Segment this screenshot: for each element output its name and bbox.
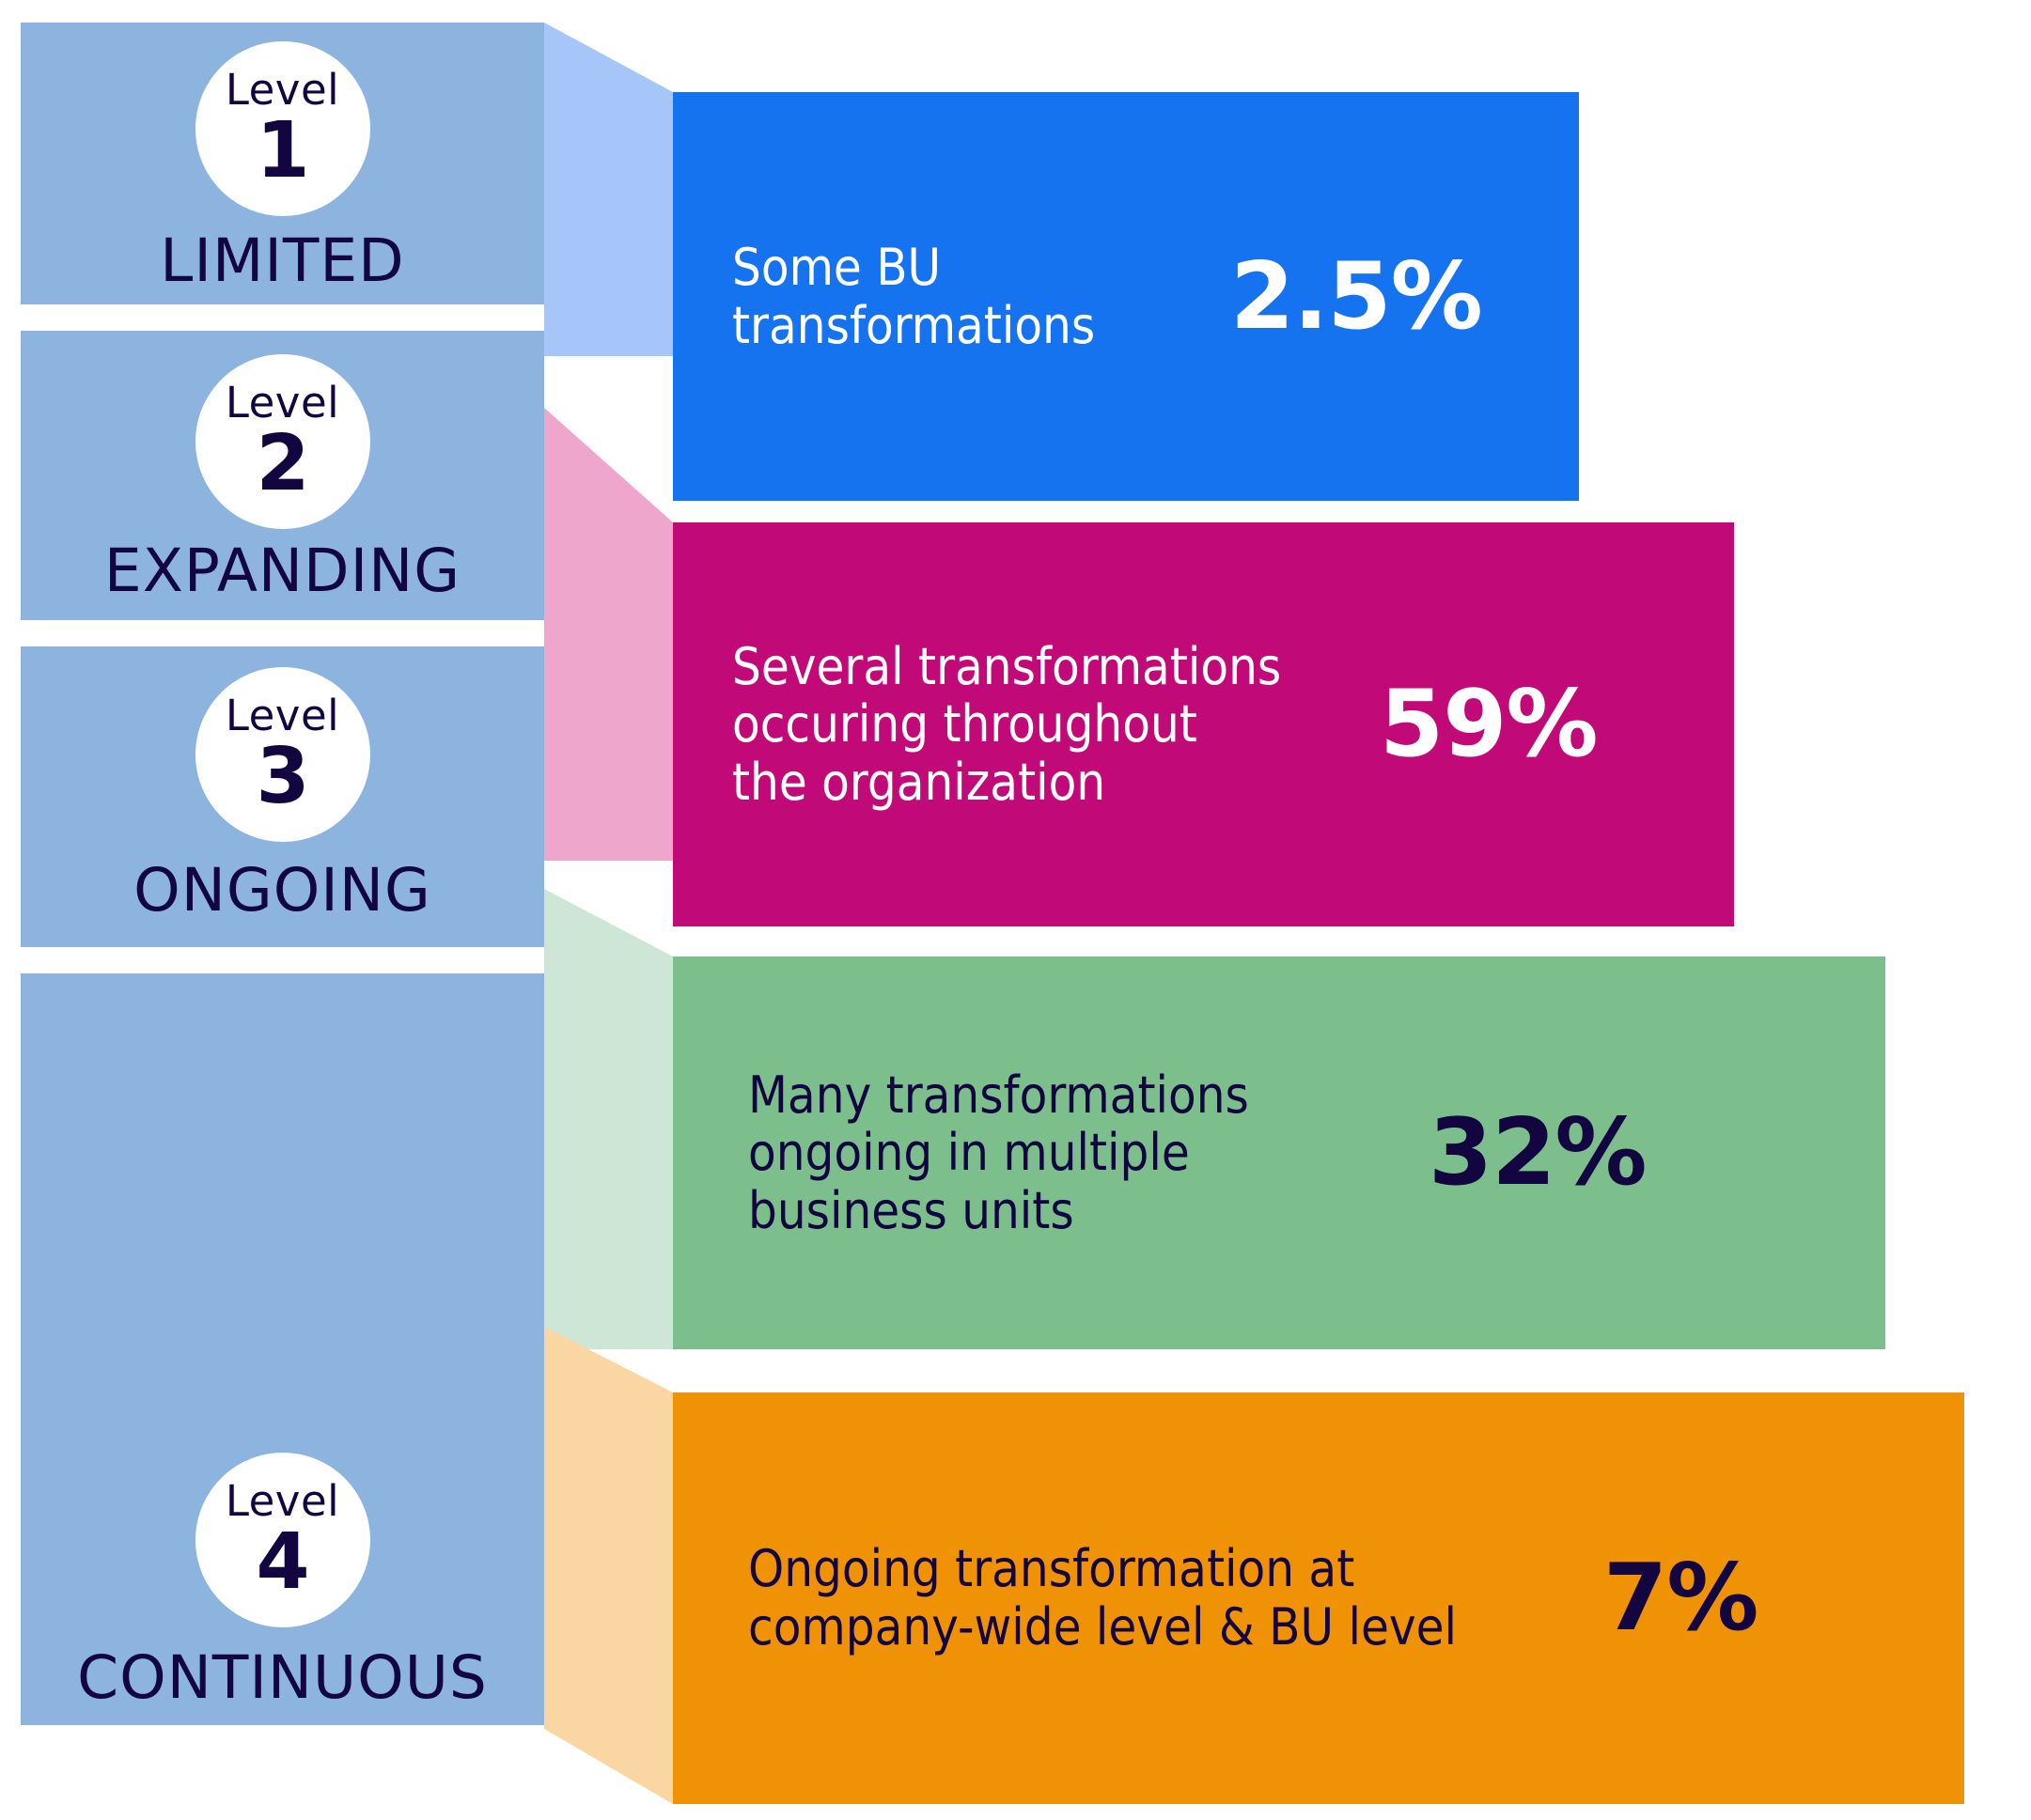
level-badge-word-3: Level [226,694,339,737]
level-badge-word-1: Level [226,69,339,111]
bar-description-1: Some BU transformations [732,239,1202,354]
level-badge-4: Level 4 [195,1453,370,1627]
wedge-connector-1 [544,23,673,356]
level-badge-3: Level 3 [195,667,370,842]
level-name-1: LIMITED [21,231,544,290]
level-badge-word-2: Level [226,381,339,424]
wedge-shape-3 [544,889,673,1349]
bar-description-4: Ongoing transformation at company-wide l… [748,1540,1575,1656]
bar-percent-2: 59% [1380,678,1598,770]
level-name-4: CONTINUOUS [21,1648,544,1707]
wedge-connector-4 [544,1327,673,1804]
level-badge-word-4: Level [226,1480,339,1522]
level-name-3: ONGOING [21,861,544,920]
level-block-3: Level 3 ONGOING [21,646,544,947]
bar-description-3: Many transformations ongoing in multiple… [748,1066,1340,1240]
level-badge-2: Level 2 [195,354,370,529]
bar-percent-4: 7% [1603,1552,1758,1644]
value-bar-2: Several transformations occuring through… [673,522,1734,926]
wedge-connector-3 [544,889,673,1349]
level-badge-number-2: 2 [256,426,308,503]
level-block-1: Level 1 LIMITED [21,23,544,304]
bar-description-2: Several transformations occuring through… [732,638,1348,812]
bar-percent-3: 32% [1429,1107,1647,1199]
wedge-shape-2 [544,408,673,861]
level-name-2: EXPANDING [21,541,544,600]
value-bar-1: Some BU transformations 2.5% [673,92,1579,501]
level-badge-1: Level 1 [195,41,370,216]
value-bar-3: Many transformations ongoing in multiple… [673,957,1885,1349]
infographic-canvas: Level 1 LIMITED Some BU transformations … [0,0,2031,1820]
wedge-connector-2 [544,408,673,861]
level-block-4: Level 4 CONTINUOUS [21,973,544,1725]
bar-percent-1: 2.5% [1230,251,1482,343]
wedge-shape-1 [544,23,673,356]
value-bar-4: Ongoing transformation at company-wide l… [673,1392,1964,1804]
level-badge-number-1: 1 [256,113,308,190]
wedge-shape-4 [544,1327,673,1804]
level-badge-number-4: 4 [256,1524,308,1601]
level-block-2: Level 2 EXPANDING [21,331,544,620]
level-badge-number-3: 3 [256,739,308,816]
